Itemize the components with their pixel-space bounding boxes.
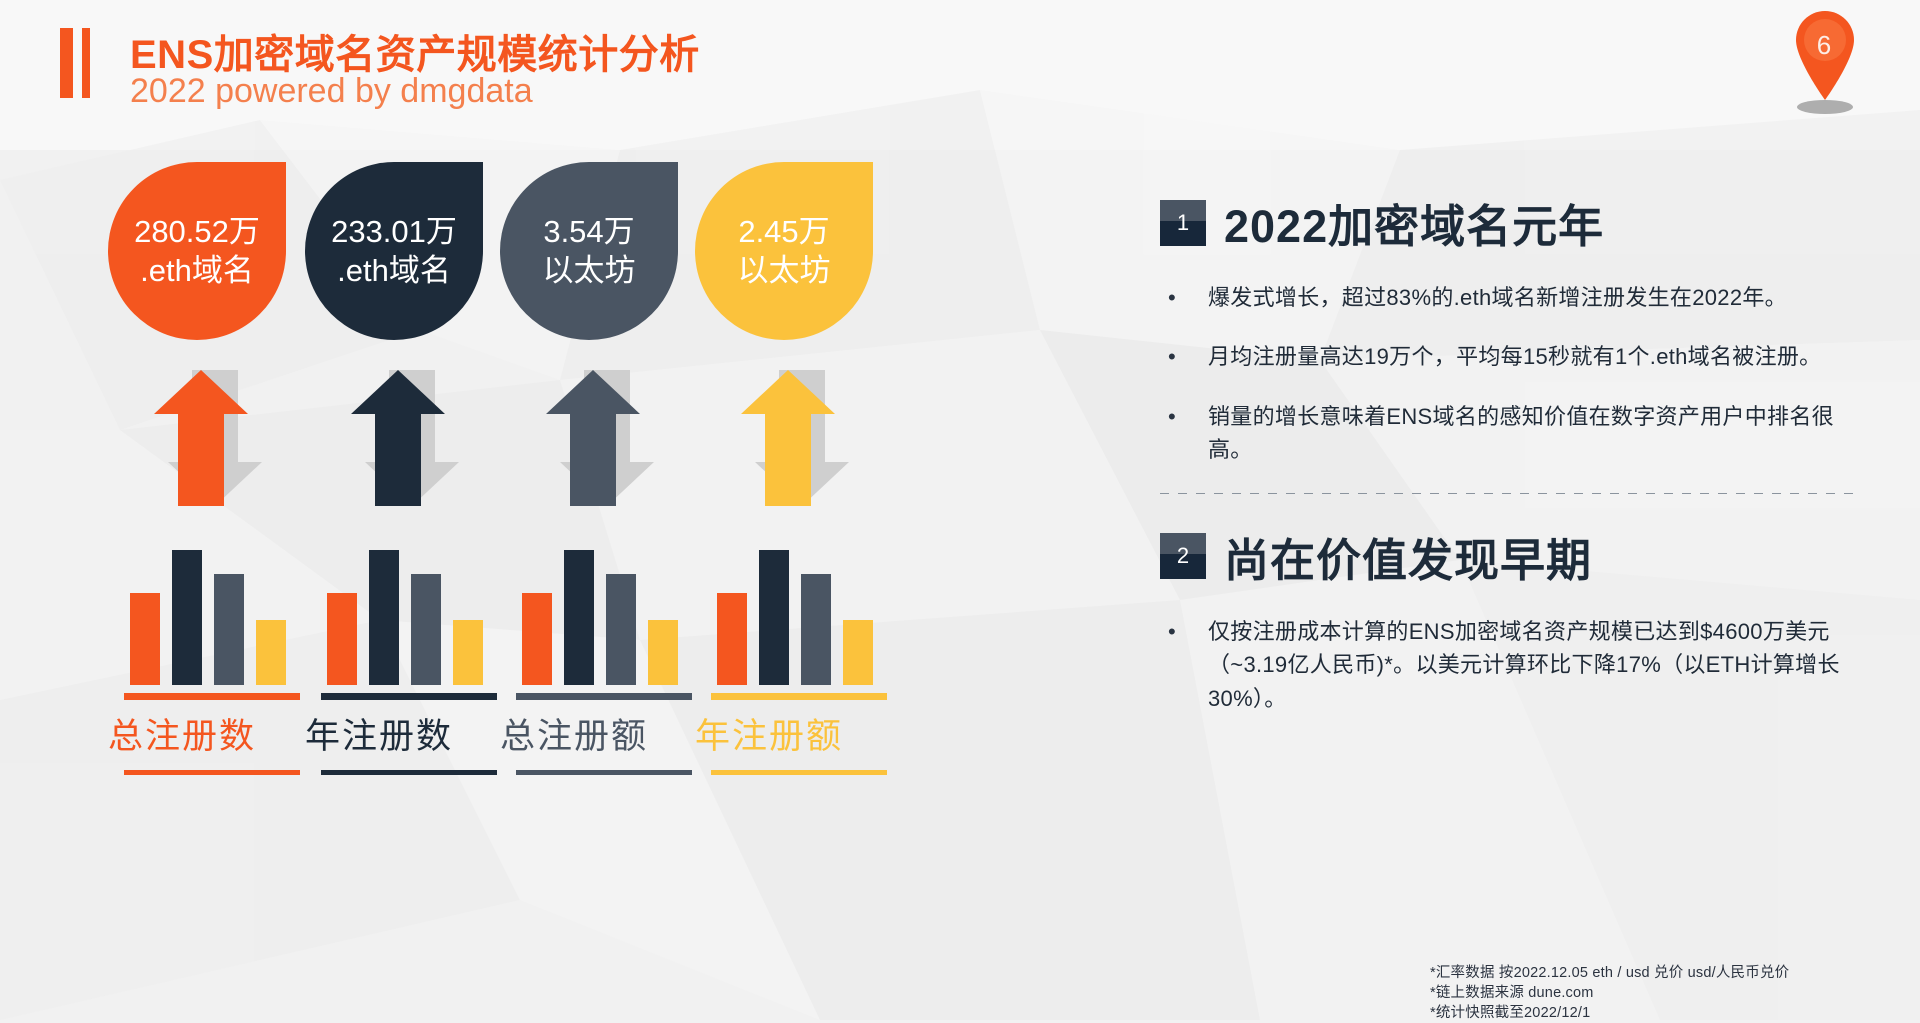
footnote-line: *链上数据来源 dune.com [1430, 983, 1789, 1003]
metric-value-2: 3.54万 [543, 212, 634, 251]
section-2-bullets: • 仅按注册成本计算的ENS加密域名资产规模已达到$4600万美元（~3.19亿… [1160, 615, 1860, 715]
section-1-bullets: • 爆发式增长，超过83%的.eth域名新增注册发生在2022年。 • 月均注册… [1160, 281, 1860, 467]
arrow-pair-3 [713, 368, 863, 508]
page-subtitle: 2022 powered by dmgdata [130, 72, 533, 111]
header: ENS加密域名资产规模统计分析 2022 powered by dmgdata [0, 0, 1920, 140]
caption-underline-bottom-2 [516, 770, 692, 775]
mini-bar-chart-2 [522, 550, 682, 685]
caption-underline-bottom-3 [711, 770, 887, 775]
bullet-item: • 仅按注册成本计算的ENS加密域名资产规模已达到$4600万美元（~3.19亿… [1160, 615, 1860, 715]
arrow-pair-0 [126, 368, 276, 508]
bullet-text: 仅按注册成本计算的ENS加密域名资产规模已达到$4600万美元（~3.19亿人民… [1208, 615, 1860, 715]
bar-0-0 [130, 593, 160, 685]
metric-drop-2: 3.54万 以太坊 [500, 162, 678, 340]
footnote-line: *汇率数据 按2022.12.05 eth / usd 兑价 usd/人民币兑价 [1430, 963, 1789, 983]
metric-label-1: 年注册数 [305, 708, 515, 759]
bar-3-0 [717, 593, 747, 685]
bar-1-2 [411, 574, 441, 685]
section-2-title: 尚在价值发现早期 [1224, 524, 1592, 589]
accent-bar-1 [60, 28, 73, 98]
bullet-text: 销量的增长意味着ENS域名的感知价值在数字资产用户中排名很高。 [1208, 400, 1860, 467]
metric-label-0: 总注册数 [108, 708, 318, 759]
metric-unit-0: .eth域名 [140, 251, 254, 290]
footnote-line: *统计快照截至2022/12/1 [1430, 1003, 1789, 1023]
bar-3-2 [801, 574, 831, 685]
section-1-title: 2022加密域名元年 [1224, 190, 1604, 255]
metrics-visual-panel: 280.52万 .eth域名 总注册数 233.01万 .eth域名 [0, 140, 1120, 1020]
bar-0-1 [172, 550, 202, 685]
bullet-text: 月均注册量高达19万个，平均每15秒就有1个.eth域名被注册。 [1208, 340, 1821, 373]
caption-underline-top-0 [124, 693, 300, 700]
bullet-marker-icon: • [1160, 615, 1208, 715]
bullet-item: • 月均注册量高达19万个，平均每15秒就有1个.eth域名被注册。 [1160, 340, 1860, 373]
bullet-marker-icon: • [1160, 281, 1208, 314]
bullet-item: • 爆发式增长，超过83%的.eth域名新增注册发生在2022年。 [1160, 281, 1860, 314]
metric-value-0: 280.52万 [134, 212, 260, 251]
caption-underline-top-1 [321, 693, 497, 700]
title-accent-bars [60, 28, 90, 98]
metric-unit-1: .eth域名 [337, 251, 451, 290]
accent-bar-2 [82, 28, 90, 98]
page-number-pin: 6 [1792, 8, 1866, 116]
metric-drop-0: 280.52万 .eth域名 [108, 162, 286, 340]
bar-1-0 [327, 593, 357, 685]
bar-2-2 [606, 574, 636, 685]
metric-value-3: 2.45万 [738, 212, 829, 251]
caption-underline-top-3 [711, 693, 887, 700]
metric-drop-1: 233.01万 .eth域名 [305, 162, 483, 340]
section-1-header: 1 2022加密域名元年 [1160, 190, 1860, 255]
bullet-marker-icon: • [1160, 340, 1208, 373]
section-divider [1160, 493, 1860, 494]
metric-drop-3: 2.45万 以太坊 [695, 162, 873, 340]
bar-1-1 [369, 550, 399, 685]
section-2: 2 尚在价值发现早期 • 仅按注册成本计算的ENS加密域名资产规模已达到$460… [1160, 524, 1860, 715]
section-1: 1 2022加密域名元年 • 爆发式增长，超过83%的.eth域名新增注册发生在… [1160, 190, 1860, 467]
bar-1-3 [453, 620, 483, 685]
section-2-header: 2 尚在价值发现早期 [1160, 524, 1860, 589]
metric-label-2: 总注册额 [500, 708, 710, 759]
insights-panel: 1 2022加密域名元年 • 爆发式增长，超过83%的.eth域名新增注册发生在… [1160, 190, 1860, 741]
footnotes: *汇率数据 按2022.12.05 eth / usd 兑价 usd/人民币兑价… [1430, 963, 1789, 1023]
arrow-pair-2 [518, 368, 668, 508]
bar-0-2 [214, 574, 244, 685]
caption-underline-bottom-0 [124, 770, 300, 775]
caption-underline-top-2 [516, 693, 692, 700]
bar-0-3 [256, 620, 286, 685]
bullet-item: • 销量的增长意味着ENS域名的感知价值在数字资产用户中排名很高。 [1160, 400, 1860, 467]
metric-value-1: 233.01万 [331, 212, 457, 251]
section-1-number-badge: 1 [1160, 200, 1206, 246]
metric-label-3: 年注册额 [695, 708, 905, 759]
bar-3-1 [759, 550, 789, 685]
bar-2-0 [522, 593, 552, 685]
page-number: 6 [1792, 30, 1856, 61]
bar-2-3 [648, 620, 678, 685]
bullet-marker-icon: • [1160, 400, 1208, 467]
caption-underline-bottom-1 [321, 770, 497, 775]
mini-bar-chart-1 [327, 550, 487, 685]
bullet-text: 爆发式增长，超过83%的.eth域名新增注册发生在2022年。 [1208, 281, 1787, 314]
metric-unit-3: 以太坊 [738, 251, 831, 290]
section-2-number-badge: 2 [1160, 533, 1206, 579]
arrow-pair-1 [323, 368, 473, 508]
map-pin-icon [1792, 8, 1866, 116]
mini-bar-chart-0 [130, 550, 290, 685]
metric-unit-2: 以太坊 [543, 251, 636, 290]
bar-3-3 [843, 620, 873, 685]
mini-bar-chart-3 [717, 550, 877, 685]
bar-2-1 [564, 550, 594, 685]
